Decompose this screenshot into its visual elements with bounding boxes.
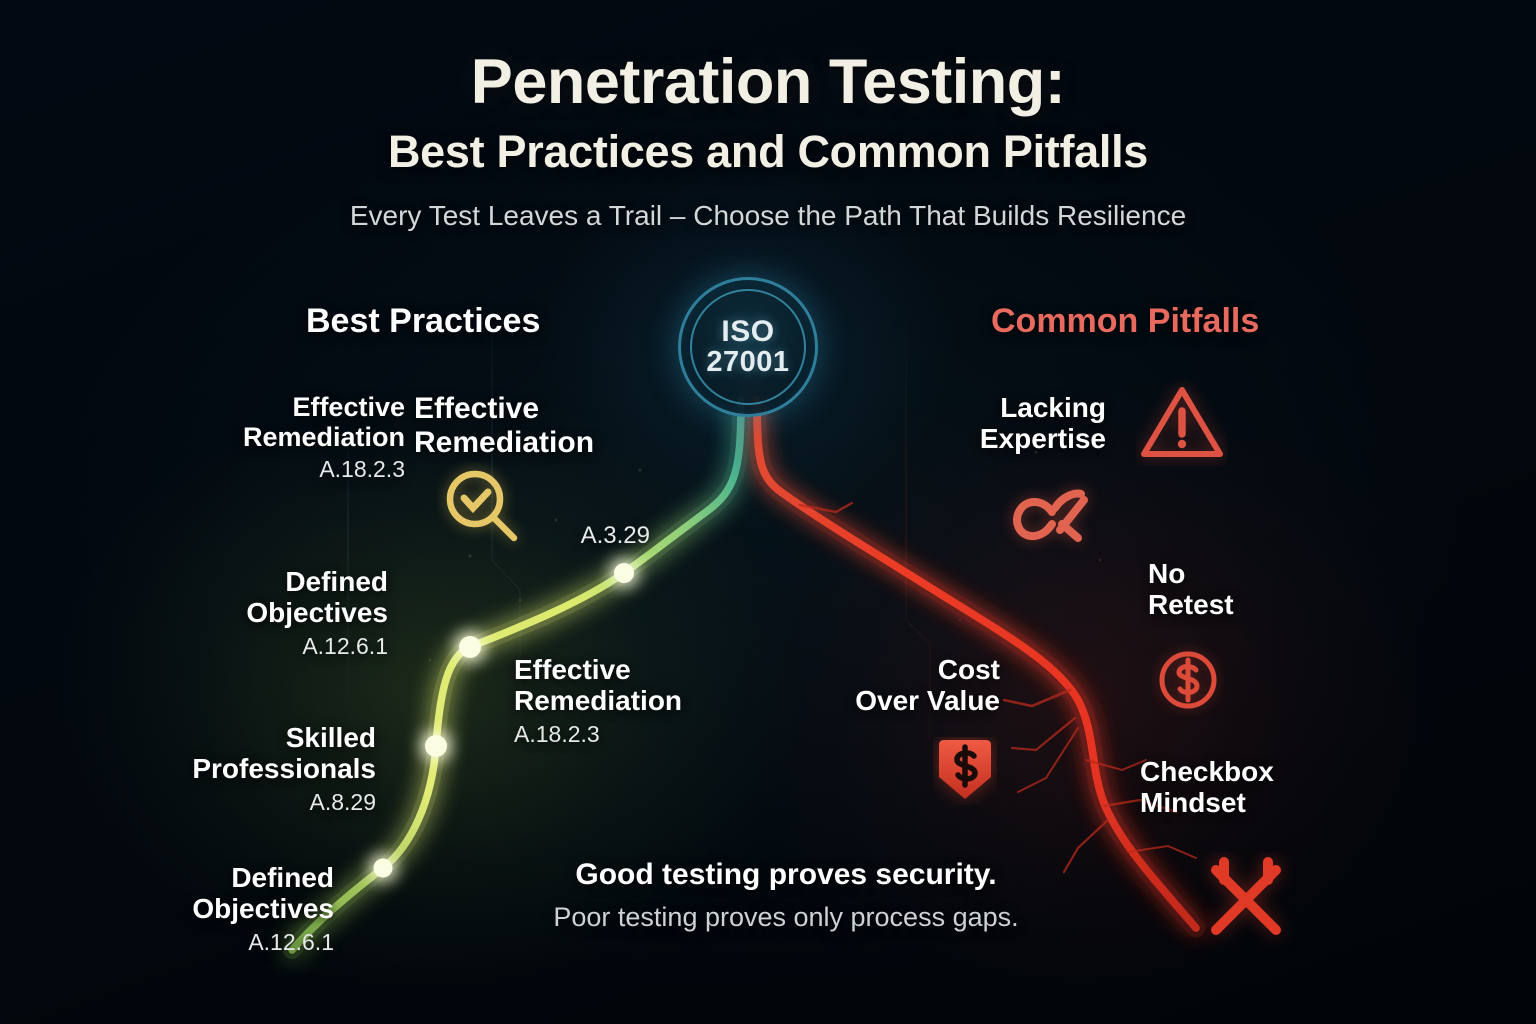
iso-label-line2: 27001 [706, 348, 789, 378]
label-code-a329: A.3.29 [520, 522, 650, 550]
infographic-canvas: Penetration Testing: Best Practices and … [0, 0, 1536, 1024]
column-header-best-practices: Best Practices [306, 302, 540, 341]
label-defined-objectives-1: Defined Objectives A.12.6.1 [190, 566, 388, 660]
broken-chain-icon [1000, 478, 1104, 569]
crossed-x-icon [1198, 852, 1294, 953]
dollar-circle-icon [1152, 644, 1224, 721]
label-lacking-expertise: Lacking Expertise [880, 392, 1106, 455]
iso-label-line1: ISO [721, 317, 774, 348]
magnifier-check-icon [437, 462, 529, 559]
dollar-shield-icon [933, 737, 997, 810]
caption-line2: Poor testing proves only process gaps. [476, 902, 1096, 933]
label-defined-objectives-2: Defined Objectives A.12.6.1 [140, 862, 334, 956]
label-skilled-professionals: Skilled Professionals A.8.29 [160, 722, 376, 816]
footer-caption: Good testing proves security. Poor testi… [476, 858, 1096, 933]
label-cost-over-value: Cost Over Value [840, 654, 1000, 717]
label-no-retest: No Retest [1148, 558, 1298, 621]
warning-triangle-icon [1136, 380, 1228, 471]
label-effective-remediation-2: Effective Remediation [414, 392, 634, 459]
iso-27001-badge: ISO 27001 [678, 277, 818, 417]
label-effective-remediation-3: Effective Remediation A.18.2.3 [514, 654, 764, 748]
column-header-common-pitfalls: Common Pitfalls [991, 302, 1259, 341]
label-effective-remediation-1: Effective Remediation A.18.2.3 [200, 392, 405, 483]
caption-line1: Good testing proves security. [476, 858, 1096, 892]
label-checkbox-mindset: Checkbox Mindset [1140, 756, 1330, 819]
